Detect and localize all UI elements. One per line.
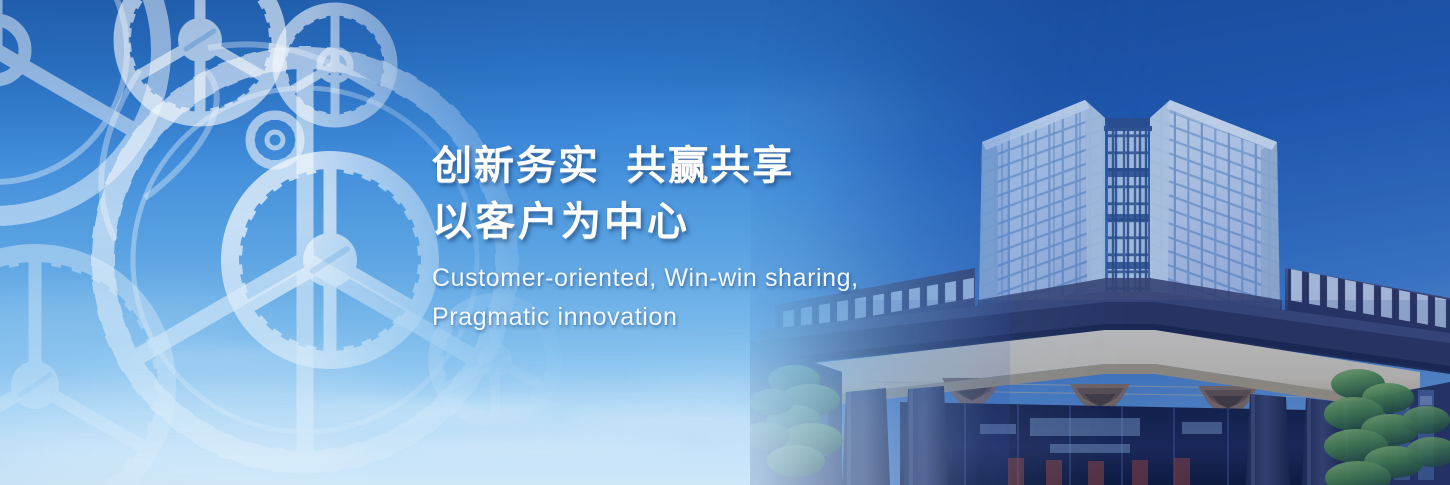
gear-lower-left [0,245,175,485]
slogan-english-line-1: Customer-oriented, Win-win sharing, [432,259,1052,298]
slogan-chinese-line-2: 以客户为中心 [432,194,1052,250]
slogan-block: 创新务实 共赢共享 以客户为中心 Customer-oriented, Win-… [432,138,1052,337]
hero-banner: 创新务实 共赢共享 以客户为中心 Customer-oriented, Win-… [0,0,1450,485]
gear-inner-hub [222,152,438,368]
slogan-english-line-2: Pragmatic innovation [432,298,1052,337]
slogan-chinese-line-1: 创新务实 共赢共享 [432,138,1052,194]
